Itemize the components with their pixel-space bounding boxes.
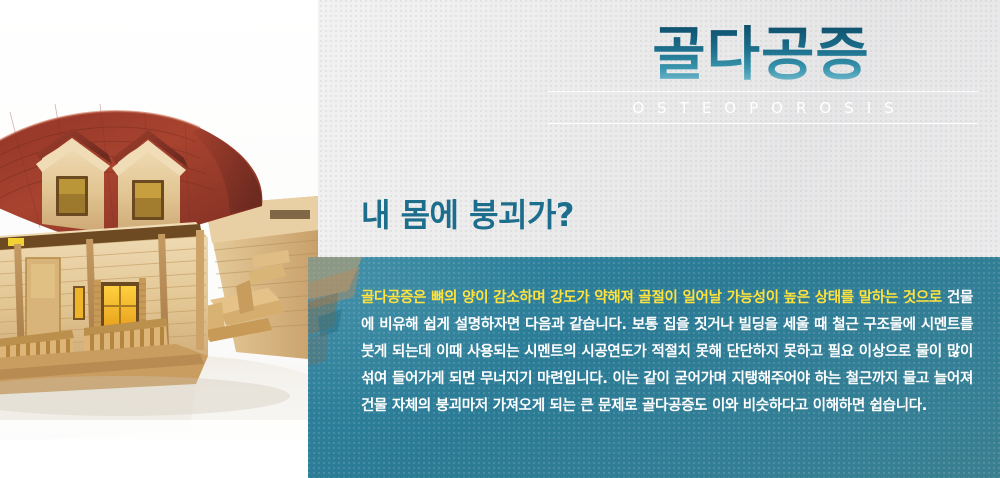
- page-heading: 내 몸에 붕괴가?: [361, 190, 574, 236]
- collapsing-house-photo: [0, 0, 318, 478]
- logo-subtitle-wrap: OSTEOPOROSIS: [548, 91, 978, 124]
- logo-title: 골다공증: [548, 24, 978, 85]
- logo-block: 골다공증 OSTEOPOROSIS: [548, 24, 978, 124]
- house-illustration: [0, 0, 318, 478]
- logo-subtitle: OSTEOPOROSIS: [548, 99, 978, 117]
- body-rest-text: 건물에 비유해 쉽게 설명하자면 다음과 같습니다. 보통 집을 짓거나 빌딩을…: [361, 290, 973, 414]
- osteoporosis-banner: 골다공증 OSTEOPOROSIS 내 몸에 붕괴가? 골다공증은 뼈의 양이 …: [0, 0, 1000, 478]
- body-lead-sentence: 골다공증은 뼈의 양이 감소하며 강도가 약해져 골절이 일어날 가능성이 높은…: [361, 290, 947, 306]
- body-copy: 골다공증은 뼈의 양이 감소하며 강도가 약해져 골절이 일어날 가능성이 높은…: [361, 285, 973, 420]
